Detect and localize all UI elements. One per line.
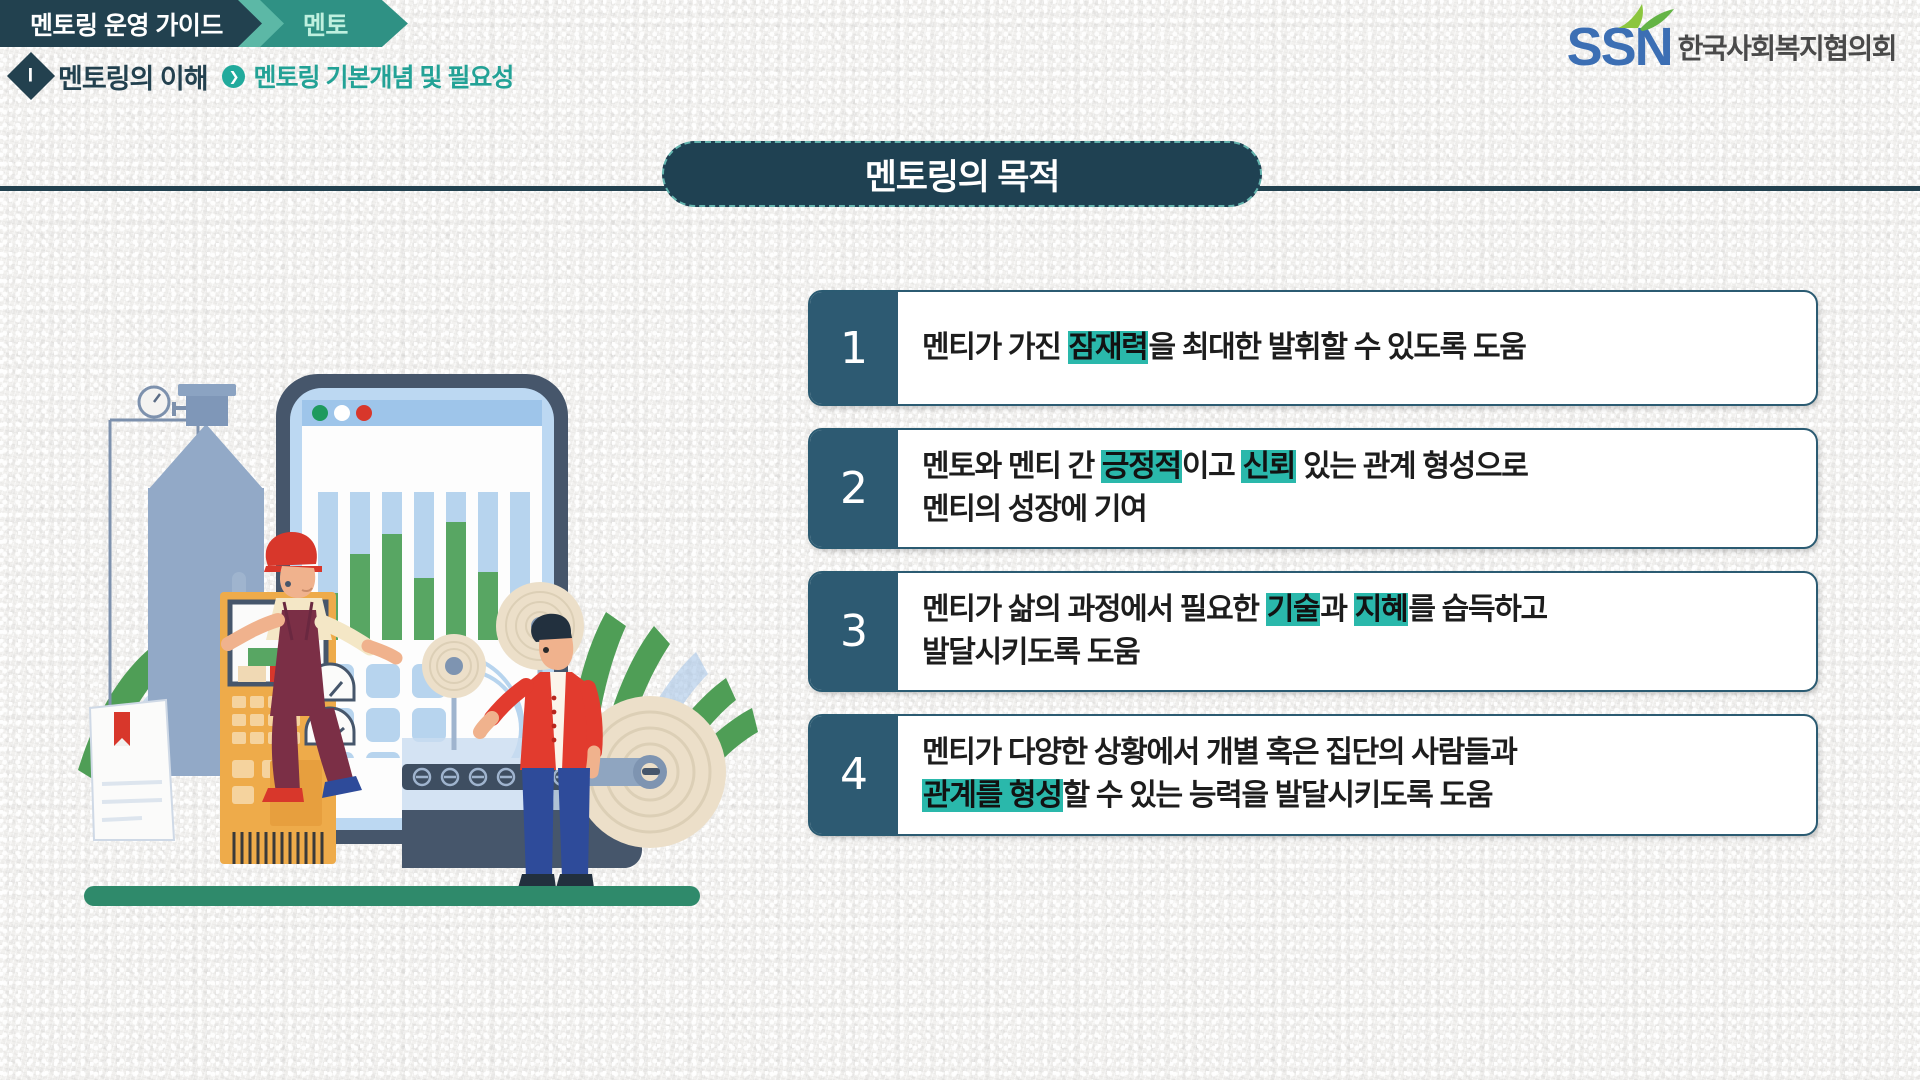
highlighted-keyword: 관계를 형성 — [922, 779, 1063, 812]
objective-card-line: 멘티가 삶의 과정에서 필요한 기술과 지혜를 습득하고 — [922, 589, 1547, 632]
window-dot-red — [356, 405, 372, 421]
text-segment: 멘티의 성장에 기여 — [922, 493, 1146, 526]
objective-card-body: 멘토와 멘티 간 긍정적이고 신뢰 있는 관계 형성으로멘티의 성장에 기여 — [898, 430, 1816, 547]
document-with-bookmark — [90, 700, 174, 840]
highlighted-keyword: 긍정적 — [1101, 450, 1182, 483]
objective-card-number: 4 — [810, 716, 898, 833]
objective-card-number: 3 — [810, 573, 898, 690]
objective-card: 1멘티가 가진 잠재력을 최대한 발휘할 수 있도록 도움 — [808, 290, 1818, 406]
objective-card: 2멘토와 멘티 간 긍정적이고 신뢰 있는 관계 형성으로멘티의 성장에 기여 — [808, 428, 1818, 549]
text-segment: 을 최대한 발휘할 수 있도록 도움 — [1148, 331, 1525, 364]
window-dot-white — [334, 405, 350, 421]
breadcrumb-section: 멘토링의 이해 — [58, 57, 208, 96]
breadcrumb: I 멘토링의 이해 ❯ 멘토링 기본개념 및 필요성 — [14, 54, 513, 98]
chevron-right-circle-icon: ❯ — [222, 65, 245, 88]
section-number: I — [28, 67, 33, 86]
leaf-icon — [1616, 0, 1678, 32]
tab-mentor-label: 멘토 — [303, 6, 348, 42]
page-title-text: 멘토링의 목적 — [865, 149, 1060, 200]
objective-card-body: 멘티가 삶의 과정에서 필요한 기술과 지혜를 습득하고발달시키도록 도움 — [898, 573, 1816, 690]
tab-guide[interactable]: 멘토링 운영 가이드 — [0, 0, 275, 47]
text-segment: 멘티가 가진 — [922, 331, 1068, 364]
text-segment: 를 습득하고 — [1408, 593, 1547, 626]
objective-card-text: 멘토와 멘티 간 긍정적이고 신뢰 있는 관계 형성으로멘티의 성장에 기여 — [922, 446, 1528, 531]
text-segment: 할 수 있는 능력을 발달시키도록 도움 — [1063, 779, 1493, 812]
objective-card: 3멘티가 삶의 과정에서 필요한 기술과 지혜를 습득하고발달시키도록 도움 — [808, 571, 1818, 692]
objective-card-line: 멘티의 성장에 기여 — [922, 489, 1528, 532]
factory-workers-analytics-illustration — [70, 340, 790, 940]
objective-card-text: 멘티가 가진 잠재력을 최대한 발휘할 수 있도록 도움 — [922, 327, 1526, 370]
text-segment: 멘티가 다양한 상황에서 개별 혹은 집단의 사람들과 — [922, 736, 1517, 769]
logo-mark: SSN — [1567, 24, 1672, 72]
objective-card-line: 멘티가 다양한 상황에서 개별 혹은 집단의 사람들과 — [922, 732, 1517, 775]
green-ground-bar — [84, 886, 700, 906]
text-segment: 있는 관계 형성으로 — [1296, 450, 1528, 483]
text-segment: 발달시키도록 도움 — [922, 636, 1139, 669]
text-segment: 멘티가 삶의 과정에서 필요한 — [922, 593, 1266, 626]
tab-guide-label: 멘토링 운영 가이드 — [30, 6, 223, 42]
highlighted-keyword: 지혜 — [1354, 593, 1409, 626]
highlighted-keyword: 기술 — [1266, 593, 1321, 626]
highlighted-keyword: 잠재력 — [1068, 331, 1149, 364]
organization-logo: SSN 한국사회복지협의회 — [1567, 24, 1896, 72]
text-segment: 멘토와 멘티 간 — [922, 450, 1101, 483]
text-segment: 이고 — [1182, 450, 1242, 483]
objective-card-number: 2 — [810, 430, 898, 547]
objective-card-line: 멘토와 멘티 간 긍정적이고 신뢰 있는 관계 형성으로 — [922, 446, 1528, 489]
objective-card: 4멘티가 다양한 상황에서 개별 혹은 집단의 사람들과관계를 형성할 수 있는… — [808, 714, 1818, 835]
objective-cards-list: 1멘티가 가진 잠재력을 최대한 발휘할 수 있도록 도움2멘토와 멘티 간 긍… — [808, 290, 1818, 858]
breadcrumb-subsection: 멘토링 기본개념 및 필요성 — [254, 58, 514, 94]
objective-card-text: 멘티가 삶의 과정에서 필요한 기술과 지혜를 습득하고발달시키도록 도움 — [922, 589, 1547, 674]
objective-card-line: 멘티가 가진 잠재력을 최대한 발휘할 수 있도록 도움 — [922, 327, 1526, 370]
header-tabbar: 멘토링 운영 가이드 멘토 — [0, 0, 408, 47]
objective-card-line: 발달시키도록 도움 — [922, 632, 1547, 675]
window-dot-green — [312, 405, 328, 421]
highlighted-keyword: 신뢰 — [1241, 450, 1296, 483]
section-diamond-icon: I — [7, 52, 55, 100]
objective-card-body: 멘티가 다양한 상황에서 개별 혹은 집단의 사람들과관계를 형성할 수 있는 … — [898, 716, 1816, 833]
objective-card-text: 멘티가 다양한 상황에서 개별 혹은 집단의 사람들과관계를 형성할 수 있는 … — [922, 732, 1517, 817]
objective-card-number: 1 — [810, 292, 898, 404]
text-segment: 과 — [1320, 593, 1353, 626]
logo-org-name: 한국사회복지협의회 — [1678, 27, 1896, 72]
page-title: 멘토링의 목적 — [662, 141, 1262, 207]
objective-card-body: 멘티가 가진 잠재력을 최대한 발휘할 수 있도록 도움 — [898, 292, 1816, 404]
objective-card-line: 관계를 형성할 수 있는 능력을 발달시키도록 도움 — [922, 775, 1517, 818]
